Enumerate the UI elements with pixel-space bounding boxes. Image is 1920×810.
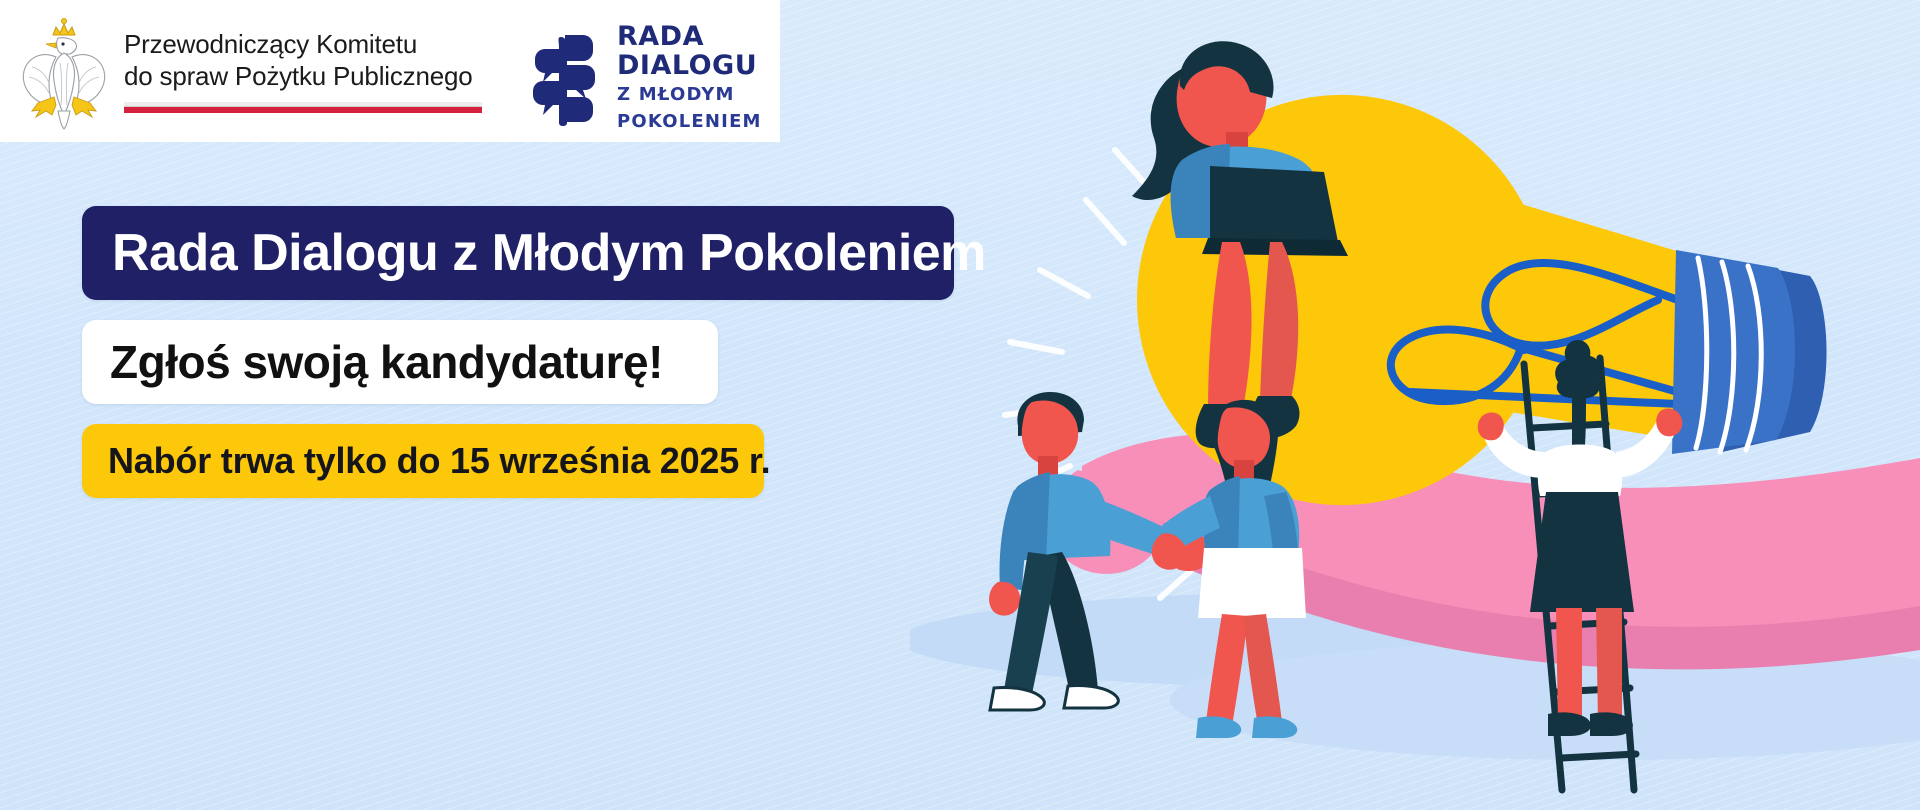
logo-line-z-mlodym: Z MŁODYM <box>617 84 762 107</box>
ladder-woman-skirt <box>1530 492 1634 612</box>
rada-dialogu-wordmark: RADA DIALOGU Z MŁODYM POKOLENIEM <box>617 22 762 133</box>
ministry-line-2: do spraw Pożytku Publicznego <box>124 61 482 93</box>
bubble-r1 <box>565 35 593 61</box>
ministry-title-block: Przewodniczący Komitetu do spraw Pożytku… <box>124 29 482 112</box>
bubble-r2 <box>565 65 595 99</box>
promo-banner: Przewodniczący Komitetu do spraw Pożytku… <box>0 0 1920 810</box>
header-logo-card: Przewodniczący Komitetu do spraw Pożytku… <box>0 0 780 142</box>
ladder-woman-leg-left <box>1556 608 1582 722</box>
title-text: Rada Dialogu z Młodym Pokoleniem <box>112 223 986 283</box>
bubble-r3 <box>565 97 593 122</box>
lightbulb-teamwork-illustration <box>910 0 1920 810</box>
eagle-crown <box>53 24 75 35</box>
eagle-eye <box>61 42 64 45</box>
title-banner: Rada Dialogu z Młodym Pokoleniem <box>82 206 954 300</box>
polish-flag-rule <box>124 102 482 113</box>
polish-white-eagle-emblem <box>16 11 112 131</box>
deadline-banner: Nabór trwa tylko do 15 września 2025 r. <box>82 424 764 498</box>
eagle-body <box>53 53 74 115</box>
eagle-tail <box>58 111 70 129</box>
rada-dialogu-logo: RADA DIALOGU Z MŁODYM POKOLENIEM <box>525 22 762 133</box>
logo-line-pokoleniem: POKOLENIEM <box>617 111 762 134</box>
deadline-text: Nabór trwa tylko do 15 września 2025 r. <box>108 440 770 482</box>
ministry-line-1: Przewodniczący Komitetu <box>124 29 482 61</box>
man-shoe-front <box>1064 685 1118 708</box>
eagle-beak <box>46 43 56 48</box>
ladder-woman-blouse <box>1538 445 1622 497</box>
woman-walk-skirt <box>1198 548 1306 618</box>
logo-line-dialogu: DIALOGU <box>617 51 762 80</box>
man-shoe-back <box>990 687 1044 710</box>
eagle-crown-jewel <box>61 18 66 23</box>
bubble-l2 <box>533 81 559 115</box>
rada-dialogu-speech-bubble-mark <box>525 29 603 127</box>
cta-text: Zgłoś swoją kandydaturę! <box>110 335 663 389</box>
flag-rule-red <box>124 107 482 113</box>
logo-line-rada: RADA <box>617 22 762 51</box>
message-stack: Rada Dialogu z Młodym Pokoleniem Zgłoś s… <box>82 206 954 498</box>
cta-banner: Zgłoś swoją kandydaturę! <box>82 320 718 404</box>
ladder-woman-leg-right <box>1596 608 1622 722</box>
eagle-head <box>57 38 77 54</box>
laptop <box>1210 166 1338 242</box>
bubble-l1 <box>535 49 559 82</box>
